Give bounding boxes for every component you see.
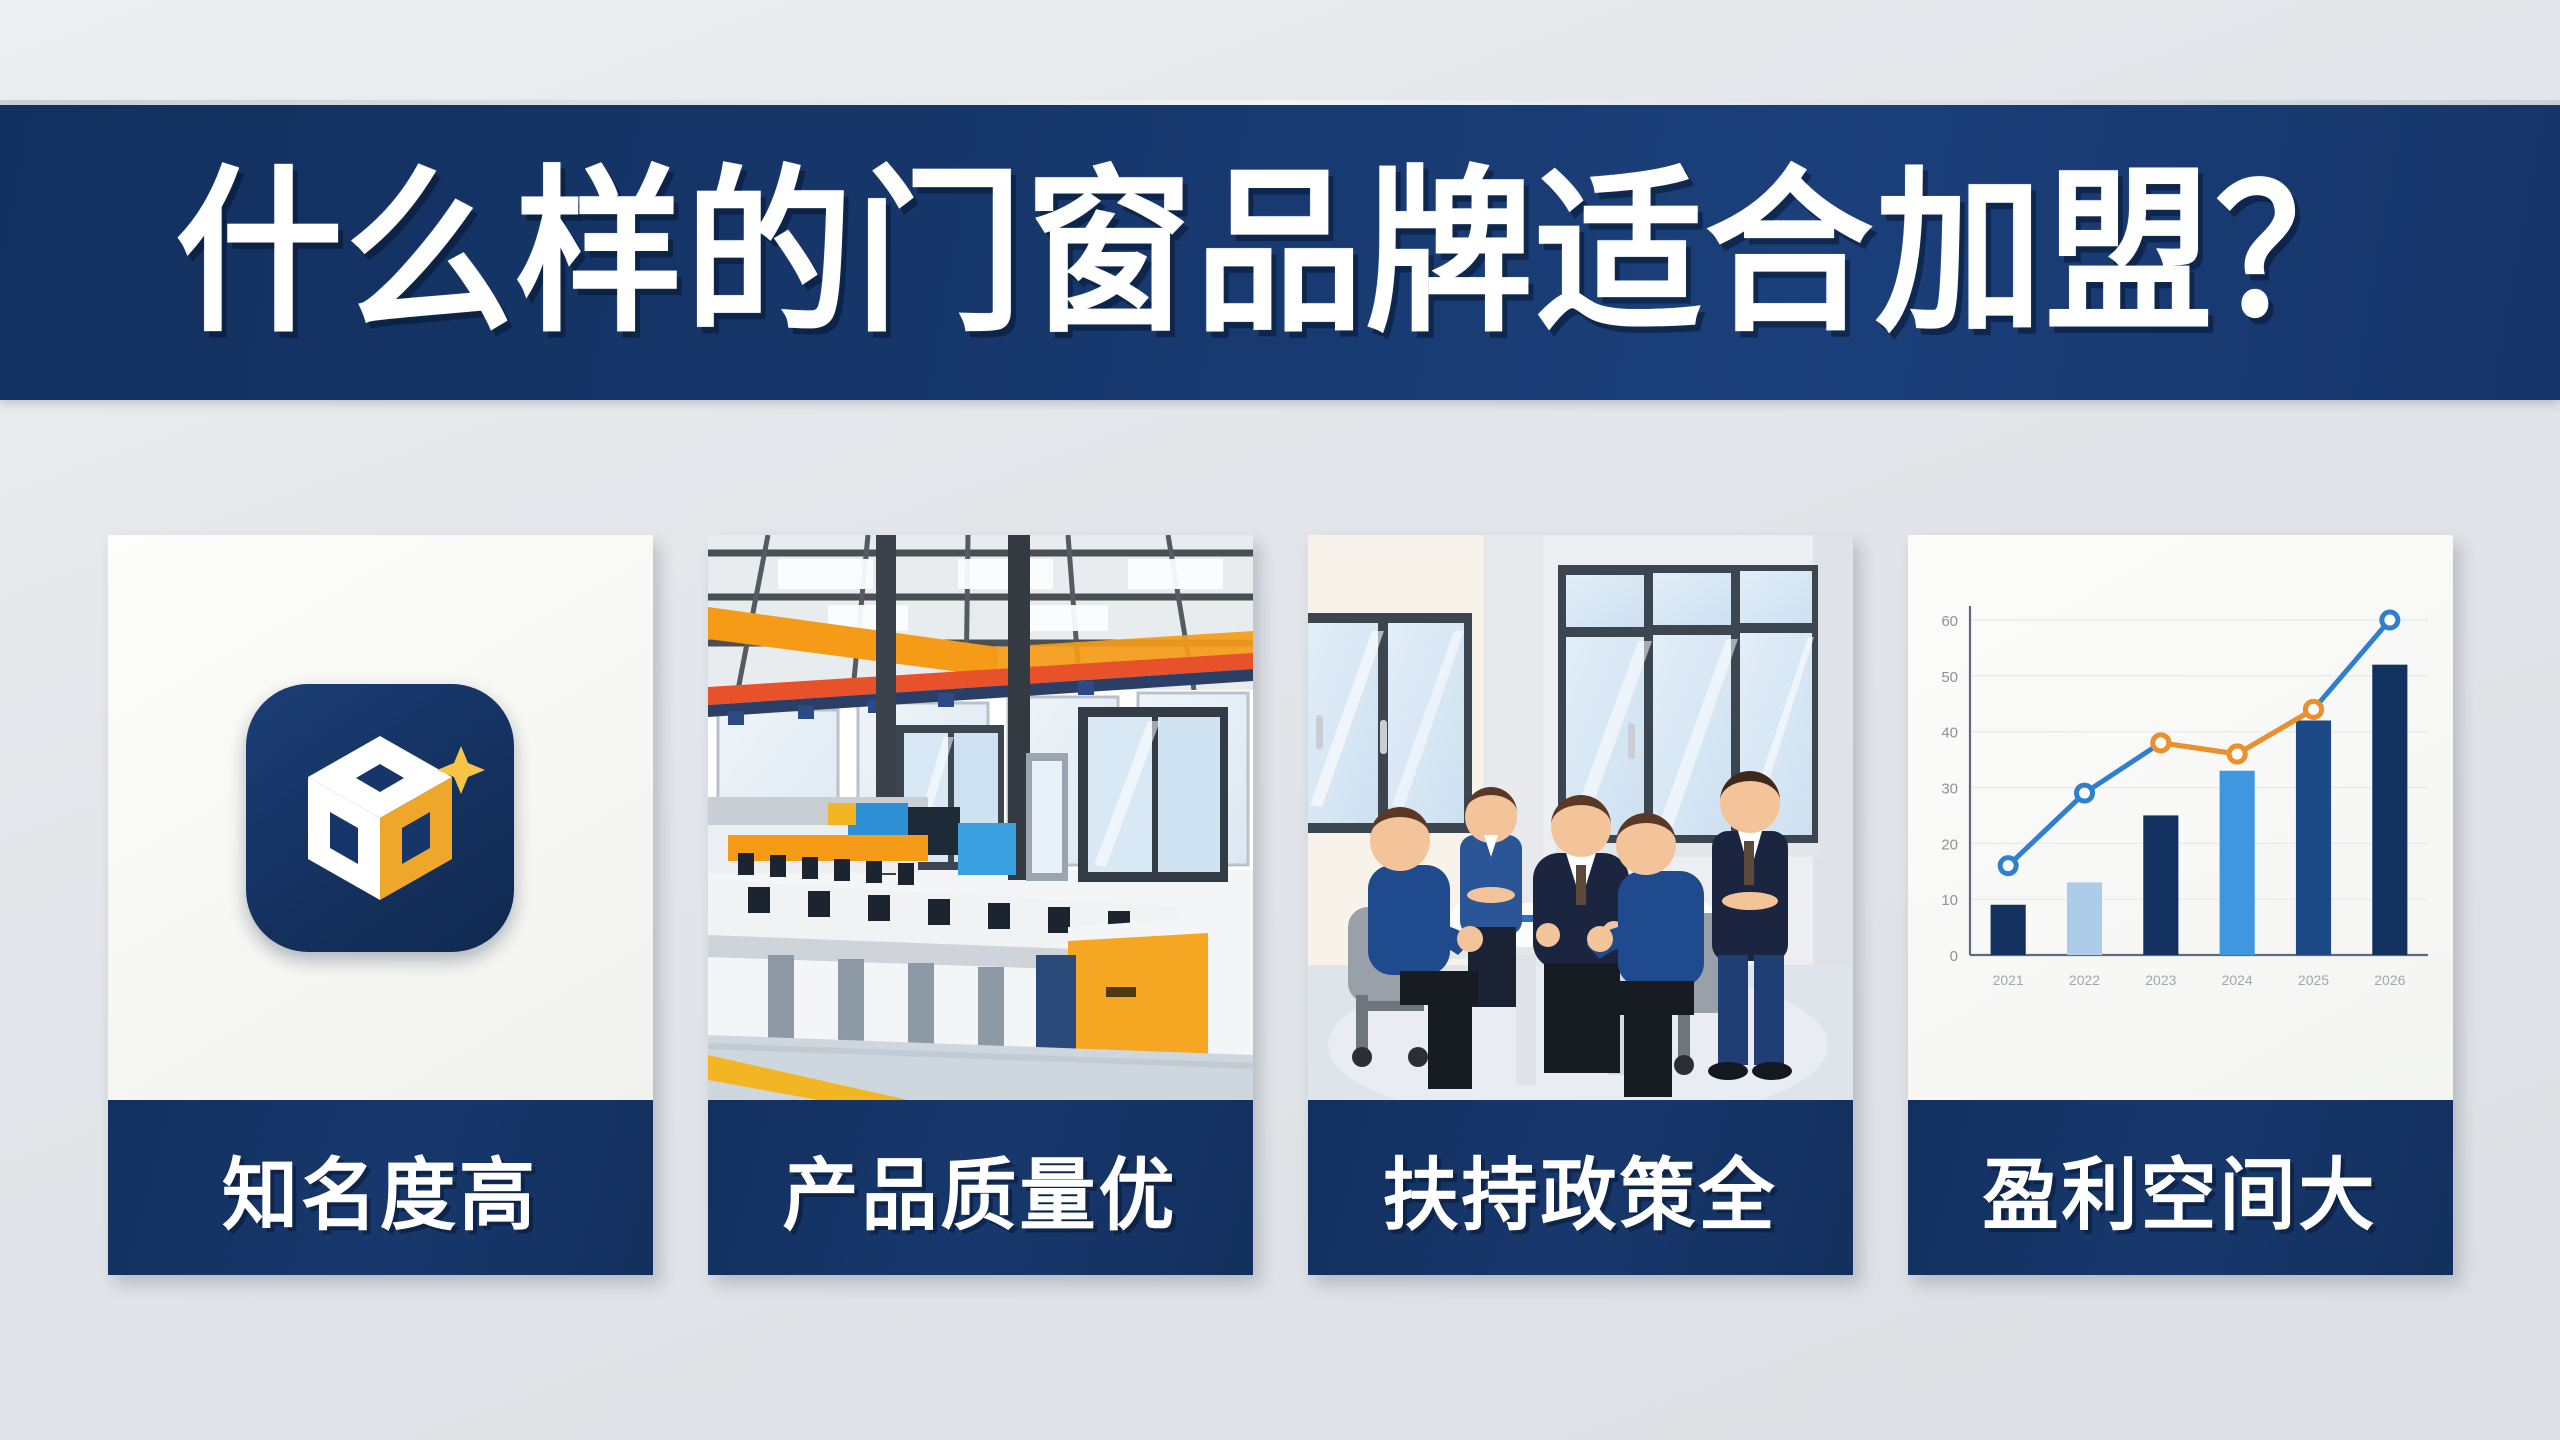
chart-marker [2076, 785, 2092, 801]
feature-card-row: 知名度高 [0, 535, 2560, 1280]
chart-marker [2229, 746, 2245, 762]
x-axis-tick: 2021 [1992, 972, 2023, 988]
feature-card-brand[interactable]: 知名度高 [108, 535, 653, 1275]
x-axis-tick: 2022 [2068, 972, 2099, 988]
chart-marker [2381, 612, 2397, 628]
chart-bar [2295, 721, 2330, 956]
y-axis-tick: 50 [1941, 669, 1958, 686]
card-label-text: 扶持政策全 [1383, 1130, 1778, 1244]
y-axis-tick: 40 [1941, 725, 1958, 742]
cube-icon [246, 684, 514, 952]
x-axis-tick: 2024 [2221, 972, 2252, 988]
chart-line [2008, 620, 2390, 866]
chart-marker [2152, 735, 2168, 751]
card-label-quality: 产品质量优 [708, 1100, 1253, 1275]
y-axis-tick: 10 [1941, 892, 1958, 909]
x-axis-tick: 2023 [2145, 972, 2176, 988]
card-media-factory [708, 535, 1253, 1100]
y-axis-tick: 30 [1941, 781, 1958, 798]
chart-bar [2219, 771, 2254, 955]
chart-bar [2143, 815, 2178, 955]
card-media-logo [108, 535, 653, 1100]
chart-bar [1990, 905, 2025, 955]
card-label-text: 盈利空间大 [1983, 1130, 2378, 1244]
x-axis-tick: 2026 [2374, 972, 2405, 988]
chart-marker [2305, 701, 2321, 717]
card-label-profit: 盈利空间大 [1908, 1100, 2453, 1275]
feature-card-profit[interactable]: 0102030405060202120222023202420252026 盈利… [1908, 535, 2453, 1275]
y-axis-tick: 60 [1941, 613, 1958, 630]
card-media-chart: 0102030405060202120222023202420252026 [1908, 535, 2453, 1100]
page-title: 什么样的门窗品牌适合加盟？ [175, 163, 2385, 341]
card-label-text: 产品质量优 [783, 1130, 1178, 1244]
growth-chart-svg: 0102030405060202120222023202420252026 [1908, 535, 2453, 1100]
card-media-meeting [1308, 535, 1853, 1100]
factory-scene [708, 535, 1253, 1100]
feature-card-support[interactable]: 扶持政策全 [1308, 535, 1853, 1275]
factory-illustration [708, 535, 1253, 1100]
card-label-brand: 知名度高 [108, 1100, 653, 1275]
card-label-support: 扶持政策全 [1308, 1100, 1853, 1275]
growth-chart: 0102030405060202120222023202420252026 [1908, 535, 2453, 1100]
logo-backdrop [108, 535, 653, 1100]
feature-card-quality[interactable]: 产品质量优 [708, 535, 1253, 1275]
isometric-cube-logo [246, 684, 514, 952]
chart-bar [2372, 665, 2407, 955]
y-axis-tick: 20 [1941, 836, 1958, 853]
meeting-illustration [1308, 535, 1853, 1100]
chart-marker [2000, 858, 2016, 874]
y-axis-tick: 0 [1949, 948, 1957, 965]
chart-bar [2066, 882, 2101, 955]
x-axis-tick: 2025 [2297, 972, 2328, 988]
card-label-text: 知名度高 [222, 1130, 538, 1244]
title-band: 什么样的门窗品牌适合加盟？ [0, 105, 2560, 400]
meeting-scene [1308, 535, 1853, 1100]
